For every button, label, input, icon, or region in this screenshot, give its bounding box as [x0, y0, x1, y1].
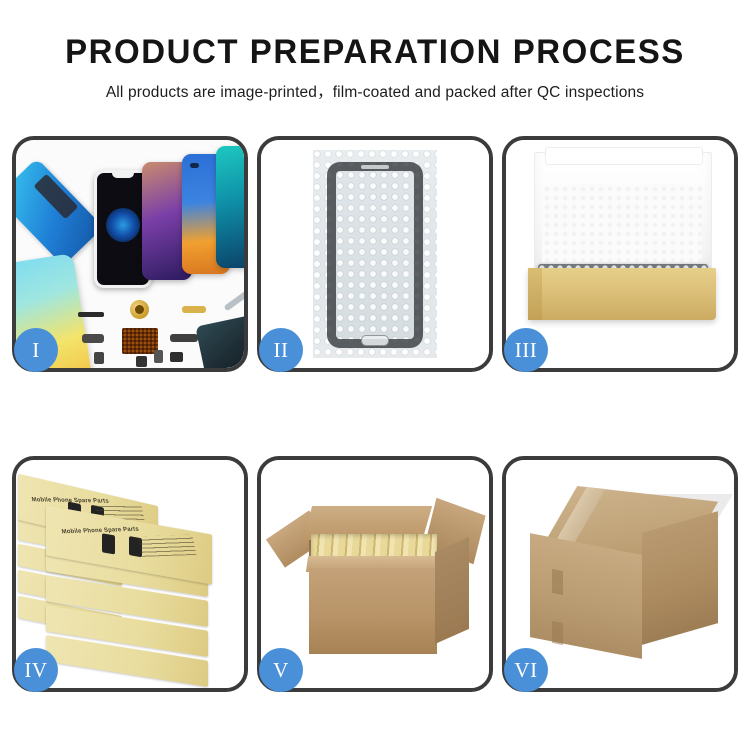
step-badge-2: II [259, 328, 303, 372]
sealed-carton-front-face [530, 533, 642, 659]
carton-seam-upper [552, 569, 563, 595]
step-badge-4: IV [14, 648, 58, 692]
part-phone-back-housing [195, 314, 244, 368]
box-stack: Mobile Phone Spare Parts Mobile Phone Sp… [18, 474, 244, 674]
bubble-wrap-sheet [313, 150, 437, 358]
open-carton [287, 500, 467, 660]
part-copper-shield [122, 328, 158, 354]
box-spec-lines-front [138, 535, 197, 557]
process-step-3: III [502, 136, 738, 372]
step-badge-3: III [504, 328, 548, 372]
step-badge-6: VI [504, 648, 548, 692]
part-chip-1 [170, 352, 183, 362]
process-step-6: VI [502, 456, 738, 692]
page-subtitle: All products are image-printed，film-coat… [0, 80, 750, 102]
carton-right-face [435, 537, 469, 644]
step-badge-1: I [14, 328, 58, 372]
process-step-2: II [257, 136, 493, 372]
phone-screen-teal [216, 146, 244, 268]
sealed-carton [530, 486, 716, 662]
home-button-cutout [361, 335, 389, 346]
part-battery-connector [78, 312, 104, 317]
process-step-grid: I II III [12, 136, 738, 692]
part-chip-3 [136, 356, 147, 367]
kraft-box-tray [528, 268, 716, 320]
product-preparation-infographic: PRODUCT PREPARATION PROCESS All products… [0, 0, 750, 750]
part-tweezers [223, 287, 244, 312]
part-flex-cable-1 [182, 306, 206, 313]
carton-front-face [309, 568, 437, 654]
process-step-5: V [257, 456, 493, 692]
process-step-4: Mobile Phone Spare Parts Mobile Phone Sp… [12, 456, 248, 692]
part-chip-2 [94, 352, 104, 364]
part-speaker-coil [130, 300, 149, 319]
box-thumbnail-front-1 [102, 533, 115, 554]
page-title: PRODUCT PREPARATION PROCESS [11, 34, 739, 71]
earpiece-slot [361, 165, 389, 169]
spare-parts-group [74, 290, 244, 368]
step-badge-5: V [259, 648, 303, 692]
process-step-1: I [12, 136, 248, 372]
part-flex-cable-3 [82, 334, 104, 343]
part-flex-cable-2 [170, 334, 198, 342]
part-chip-4 [154, 350, 163, 363]
wrapped-phone-screen [327, 162, 423, 348]
carton-seam-lower [552, 621, 563, 645]
header: PRODUCT PREPARATION PROCESS All products… [0, 0, 750, 102]
foam-insert [542, 184, 702, 262]
phone-screen-blue [16, 158, 103, 266]
sealed-carton-right-face [642, 511, 718, 645]
part-screw-1 [242, 362, 244, 367]
